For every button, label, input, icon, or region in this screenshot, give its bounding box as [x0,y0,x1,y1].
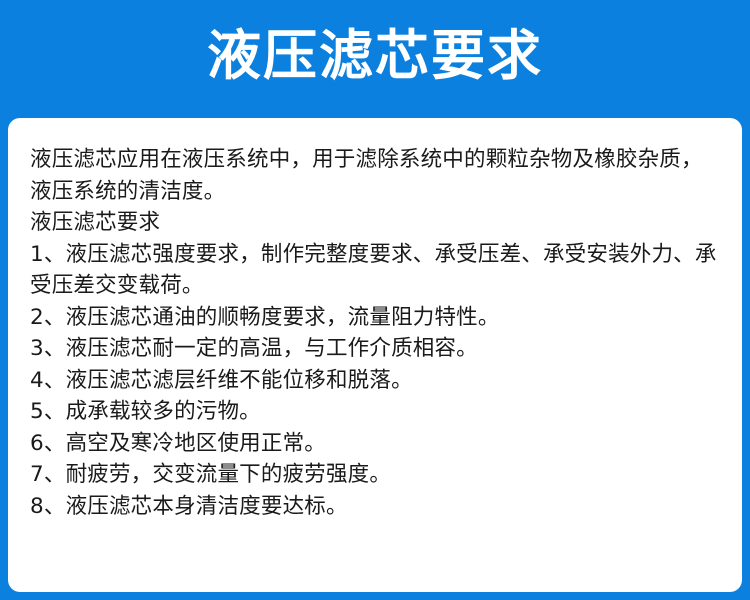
content-card: 液压滤芯应用在液压系统中，用于滤除系统中的颗粒杂物及橡胶杂质，液压系统的清洁度。… [8,118,742,592]
list-item: 8、液压滤芯本身清洁度要达标。 [30,491,722,523]
list-item: 2、液压滤芯通油的顺畅度要求，流量阻力特性。 [30,302,722,334]
page-title: 液压滤芯要求 [207,29,543,89]
intro-paragraph: 液压滤芯应用在液压系统中，用于滤除系统中的颗粒杂物及橡胶杂质，液压系统的清洁度。 [30,144,722,207]
list-item: 7、耐疲劳，交变流量下的疲劳强度。 [30,459,722,491]
header-banner: 液压滤芯要求 [0,0,750,118]
list-item: 5、成承载较多的污物。 [30,396,722,428]
list-item: 1、液压滤芯强度要求，制作完整度要求、承受压差、承受安装外力、承受压差交变载荷。 [30,239,722,302]
list-item: 6、高空及寒冷地区使用正常。 [30,428,722,460]
poster-container: 液压滤芯要求 液压滤芯应用在液压系统中，用于滤除系统中的颗粒杂物及橡胶杂质，液压… [0,0,750,600]
list-item: 4、液压滤芯滤层纤维不能位移和脱落。 [30,365,722,397]
section-heading: 液压滤芯要求 [30,207,722,239]
body-text-block: 液压滤芯应用在液压系统中，用于滤除系统中的颗粒杂物及橡胶杂质，液压系统的清洁度。… [30,144,722,522]
list-item: 3、液压滤芯耐一定的高温，与工作介质相容。 [30,333,722,365]
requirements-list: 1、液压滤芯强度要求，制作完整度要求、承受压差、承受安装外力、承受压差交变载荷。… [30,239,722,523]
